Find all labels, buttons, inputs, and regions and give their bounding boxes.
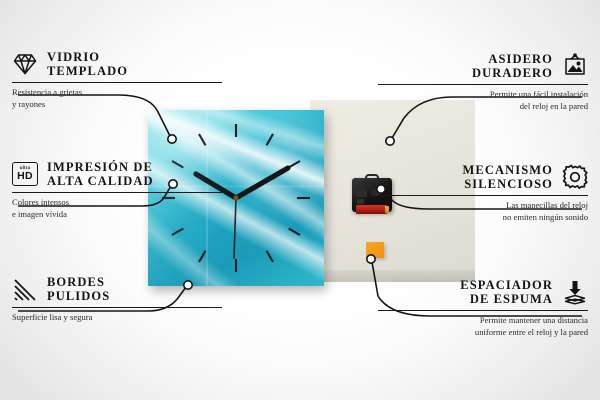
feature-description: Permite mantener una distancia uniforme … bbox=[378, 315, 588, 338]
foam-spacer-sample bbox=[366, 242, 384, 258]
feature-title: VIDRIO TEMPLADO bbox=[47, 50, 128, 78]
feature-description: Resistencia a grietas y rayones bbox=[12, 87, 222, 110]
feature-bordes-pulidos: BORDES PULIDOS Superficie lisa y segura bbox=[12, 275, 222, 324]
feature-divider bbox=[12, 82, 222, 83]
ultra-hd-icon-main-label: HD bbox=[17, 171, 33, 182]
feature-divider bbox=[12, 192, 222, 193]
feature-description: Las manecillas del reloj no emiten ningú… bbox=[378, 200, 588, 223]
feature-divider bbox=[378, 310, 588, 311]
feature-title: ESPACIADOR DE ESPUMA bbox=[460, 278, 553, 306]
feature-espaciador-de-espuma: ESPACIADOR DE ESPUMA Permite mantener un… bbox=[378, 278, 588, 338]
feature-description: Permite una fácil instalación del reloj … bbox=[378, 89, 588, 112]
feature-title: BORDES PULIDOS bbox=[47, 275, 110, 303]
foam-spacer-icon bbox=[562, 279, 588, 305]
feature-title: MECANISMO SILENCIOSO bbox=[463, 163, 553, 191]
mechanism-detail bbox=[357, 199, 364, 204]
feature-vidrio-templado: VIDRIO TEMPLADO Resistencia a grietas y … bbox=[12, 50, 222, 110]
feature-title: IMPRESIÓN DE ALTA CALIDAD bbox=[47, 160, 154, 188]
feature-description: Colores intensos e imagen vívida bbox=[12, 197, 222, 220]
diamond-icon bbox=[12, 51, 38, 77]
feature-asidero-duradero: ASIDERO DURADERO Permite una fácil insta… bbox=[378, 52, 588, 112]
feature-divider bbox=[378, 84, 588, 85]
feature-divider bbox=[378, 195, 588, 196]
ultra-hd-icon: ultra HD bbox=[12, 162, 38, 186]
gear-icon bbox=[562, 164, 588, 190]
feature-mecanismo-silencioso: MECANISMO SILENCIOSO Las manecillas del … bbox=[378, 163, 588, 223]
feature-description: Superficie lisa y segura bbox=[12, 312, 222, 324]
feature-divider bbox=[12, 307, 222, 308]
infographic-stage: VIDRIO TEMPLADO Resistencia a grietas y … bbox=[0, 0, 600, 400]
feature-impresion-alta-calidad: ultra HD IMPRESIÓN DE ALTA CALIDAD Color… bbox=[12, 160, 222, 220]
polished-edges-icon bbox=[12, 276, 38, 302]
feature-title: ASIDERO DURADERO bbox=[472, 52, 553, 80]
mechanism-detail bbox=[356, 189, 367, 197]
hanging-frame-icon bbox=[562, 53, 588, 79]
